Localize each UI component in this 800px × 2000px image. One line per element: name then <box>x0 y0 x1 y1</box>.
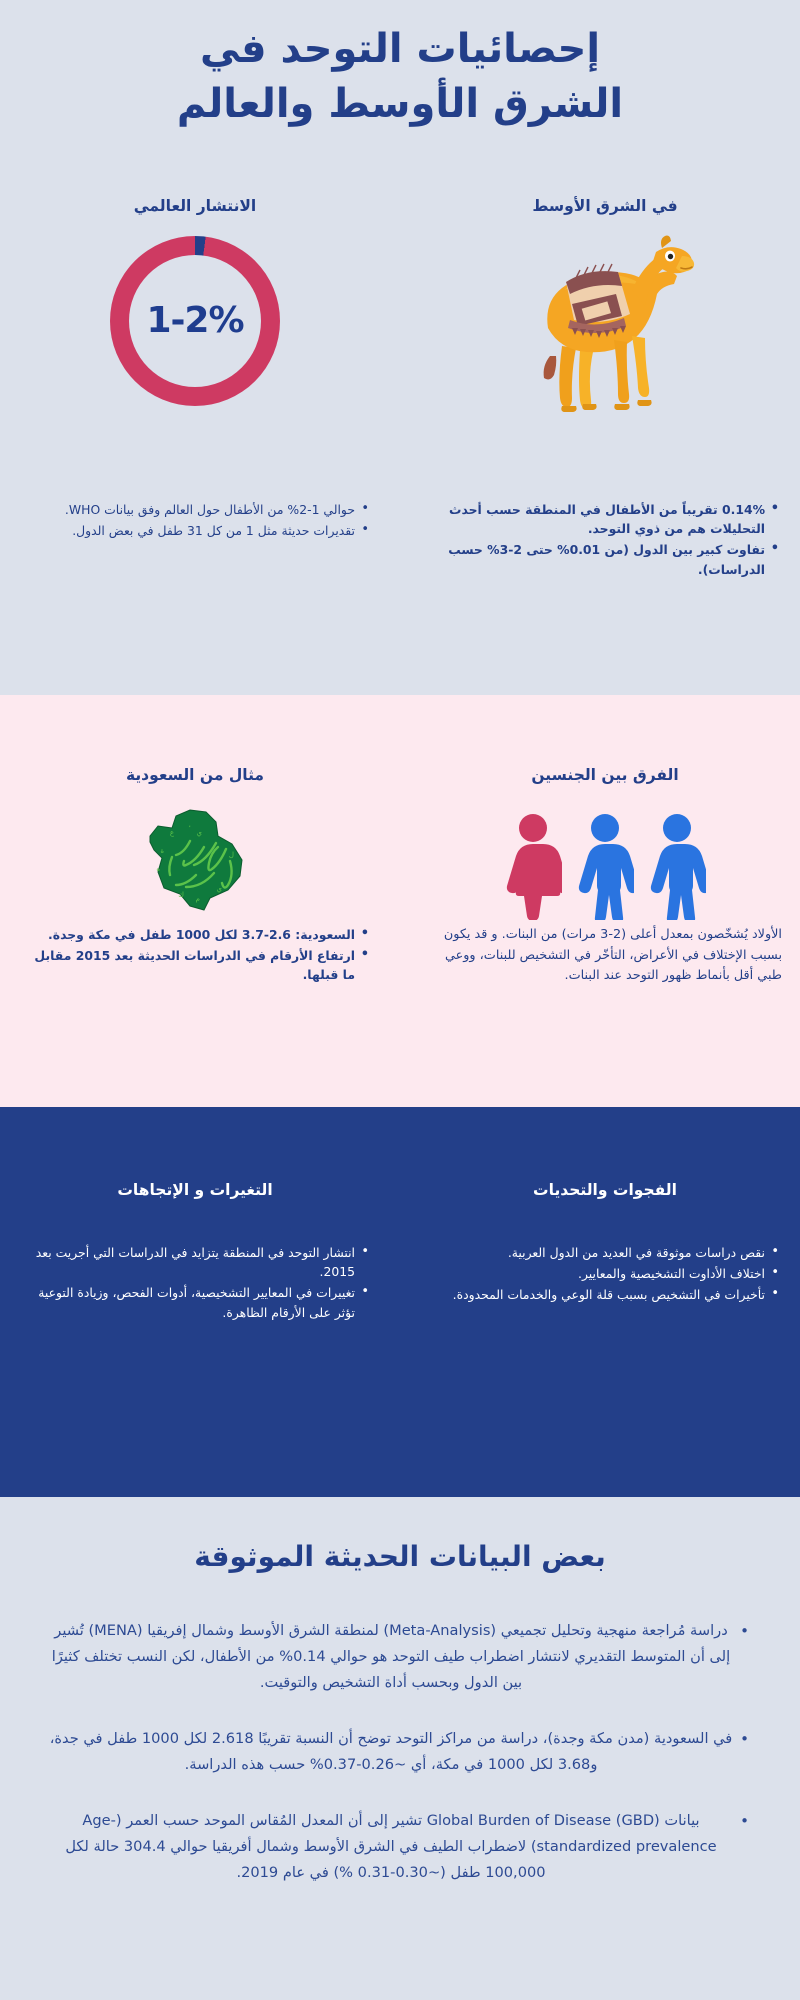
list-item: تغييرات في المعايير التشخيصية، أدوات الف… <box>18 1283 355 1321</box>
camel-illustration <box>428 228 782 413</box>
svg-text:ة: ة <box>160 847 164 855</box>
col-global-bullets: حوالي 1-2% من الأطفال حول العالم وفق بيا… <box>0 500 400 542</box>
col-camel <box>400 228 800 413</box>
list-item: انتشار التوحد في المنطقة يتزايد في الدرا… <box>18 1243 355 1281</box>
page-title-line2: الشرق الأوسط والعالم <box>0 77 800 132</box>
col-middle-east-bullets: 0.14% تقريباً من الأطفال في المنطقة حسب … <box>400 500 800 581</box>
list-item: اختلاف الأداوت التشخيصية والمعايير. <box>428 1264 765 1283</box>
list-item: دراسة مُراجعة منهجية وتحليل تجميعي (Meta… <box>48 1618 734 1696</box>
infographic-page: إحصائيات التوحد في الشرق الأوسط والعالم … <box>0 0 800 2000</box>
list-item: السعودية: 2.6-3.7 لكل 1000 طفل في مكة وج… <box>18 925 355 944</box>
row-bullets-3: نقص دراسات موثوقة في العديد من الدول الع… <box>0 1243 800 1324</box>
section-heading-gaps: الفجوات والتحديات <box>428 1180 782 1200</box>
global-bullet-list: حوالي 1-2% من الأطفال حول العالم وفق بيا… <box>18 500 372 540</box>
row-headings-2: الفرق بين الجنسين مثال من السعودية <box>0 765 800 799</box>
gender-figure-group <box>428 800 782 920</box>
col-gender-text: الأولاد يُشخّصون بمعدل أعلى (2-3 مرات) م… <box>400 925 800 987</box>
row-graphics-2: عٔي ةله كمي <box>0 800 800 920</box>
col-gender-figures <box>400 800 800 920</box>
sources-bullet-list: دراسة مُراجعة منهجية وتحليل تجميعي (Meta… <box>48 1618 752 1886</box>
section-heading-trends: التغيرات و الإتجاهات <box>18 1180 372 1200</box>
camel-icon <box>510 228 700 413</box>
male-figure-icon <box>576 812 634 920</box>
row-bullets-2: الأولاد يُشخّصون بمعدل أعلى (2-3 مرات) م… <box>0 925 800 987</box>
row-headings-3: الفجوات والتحديات التغيرات و الإتجاهات <box>0 1180 800 1214</box>
col-saudi-bullets: السعودية: 2.6-3.7 لكل 1000 طفل في مكة وج… <box>0 925 400 987</box>
saudi-map-icon: عٔي ةله كمي <box>130 801 260 919</box>
gender-paragraph: الأولاد يُشخّصون بمعدل أعلى (2-3 مرات) م… <box>428 925 782 987</box>
list-item: تأخيرات في التشخيص بسبب قلة الوعي والخدم… <box>428 1285 765 1304</box>
page-title-line1: إحصائيات التوحد في <box>0 22 800 77</box>
donut-ring: 1-2% <box>110 236 280 406</box>
list-item: تفاوت كبير بين الدول (من 0.01% حتى 2-3% … <box>428 540 765 578</box>
sources-list-wrap: دراسة مُراجعة منهجية وتحليل تجميعي (Meta… <box>0 1618 800 1916</box>
col-gender-heading: الفرق بين الجنسين <box>400 765 800 799</box>
svg-text:ي: ي <box>197 829 203 837</box>
list-item: ارتفاع الأرقام في الدراسات الحديثة بعد 2… <box>18 946 355 984</box>
page-title: إحصائيات التوحد في الشرق الأوسط والعالم <box>0 22 800 132</box>
sources-heading: بعض البيانات الحديثة الموثوقة <box>0 1540 800 1573</box>
svg-text:م: م <box>196 895 200 903</box>
row-headings-1: في الشرق الأوسط الانتشار العالمي <box>0 196 800 230</box>
global-prevalence-donut-chart: 1-2% <box>18 228 372 413</box>
section-heading-saudi: مثال من السعودية <box>18 765 372 785</box>
female-figure-icon <box>504 812 562 920</box>
saudi-map-illustration: عٔي ةله كمي <box>18 800 372 920</box>
donut-center-label: 1-2% <box>110 236 280 406</box>
list-item: 0.14% تقريباً من الأطفال في المنطقة حسب … <box>428 500 765 538</box>
svg-text:ه: ه <box>156 865 160 873</box>
list-item: نقص دراسات موثوقة في العديد من الدول الع… <box>428 1243 765 1262</box>
svg-text:ل: ل <box>229 851 234 859</box>
row-bullets-1: 0.14% تقريباً من الأطفال في المنطقة حسب … <box>0 500 800 581</box>
col-gaps-heading: الفجوات والتحديات <box>400 1180 800 1214</box>
list-item: في السعودية (مدن مكة وجدة)، دراسة من مرا… <box>48 1726 734 1778</box>
row-graphics-1: 1-2% <box>0 228 800 413</box>
col-global-heading: الانتشار العالمي <box>0 196 400 230</box>
col-middle-east-heading: في الشرق الأوسط <box>400 196 800 230</box>
section-heading-global: الانتشار العالمي <box>18 196 372 216</box>
col-saudi-heading: مثال من السعودية <box>0 765 400 799</box>
col-saudi-map: عٔي ةله كمي <box>0 800 400 920</box>
col-donut: 1-2% <box>0 228 400 413</box>
col-trends-heading: التغيرات و الإتجاهات <box>0 1180 400 1214</box>
trends-bullet-list: انتشار التوحد في المنطقة يتزايد في الدرا… <box>18 1243 372 1322</box>
svg-text:ك: ك <box>178 891 184 899</box>
gaps-bullet-list: نقص دراسات موثوقة في العديد من الدول الع… <box>428 1243 782 1305</box>
list-item: تقديرات حديثة مثل 1 من كل 31 طفل في بعض … <box>18 521 355 540</box>
list-item: بيانات Global Burden of Disease (GBD) تش… <box>48 1808 734 1886</box>
col-trends-bullets: انتشار التوحد في المنطقة يتزايد في الدرا… <box>0 1243 400 1324</box>
svg-text:ي: ي <box>217 885 223 893</box>
middle-east-bullet-list: 0.14% تقريباً من الأطفال في المنطقة حسب … <box>428 500 782 579</box>
section-heading-gender: الفرق بين الجنسين <box>428 765 782 785</box>
male-figure-icon <box>648 812 706 920</box>
list-item: حوالي 1-2% من الأطفال حول العالم وفق بيا… <box>18 500 355 519</box>
saudi-bullet-list: السعودية: 2.6-3.7 لكل 1000 طفل في مكة وج… <box>18 925 372 985</box>
section-heading-middle-east: في الشرق الأوسط <box>428 196 782 216</box>
col-gaps-bullets: نقص دراسات موثوقة في العديد من الدول الع… <box>400 1243 800 1307</box>
